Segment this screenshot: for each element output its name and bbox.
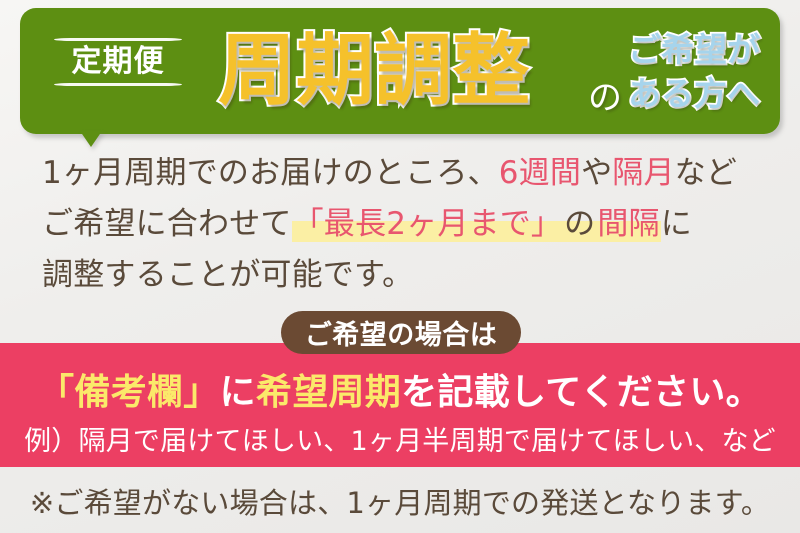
body-line-1: 1ヶ月周期でのお届けのところ、6週間や隔月など bbox=[42, 148, 772, 199]
pink-example-text: 例）隔月で届けてほしい、1ヶ月半周期で届けてほしい、など bbox=[0, 419, 800, 458]
badge-top-rule bbox=[54, 38, 182, 41]
request-pill: ご希望の場合は bbox=[281, 311, 521, 354]
body-paragraph: 1ヶ月周期でのお届けのところ、6週間や隔月など ご希望に合わせて「最長2ヶ月まで… bbox=[42, 148, 772, 301]
body-line1-part-c: や bbox=[581, 155, 612, 191]
wish-line-1: ご希望が bbox=[628, 28, 780, 72]
pink-headline-part-d: を記載してください。 bbox=[401, 372, 762, 413]
body-line-2: ご希望に合わせて「最長2ヶ月まで」の間隔に bbox=[42, 199, 772, 250]
speech-bubble-tail bbox=[80, 131, 102, 147]
header-title: 周期調整 bbox=[218, 28, 530, 115]
body-line2-highlight-interval: 間隔 bbox=[596, 206, 660, 242]
header-wish-text: ご希望が ある方へ bbox=[628, 28, 780, 115]
request-pill-label: ご希望の場合は bbox=[305, 313, 498, 352]
body-line2-part-a: ご希望に合わせて bbox=[42, 206, 292, 242]
footnote-text: ※ご希望がない場合は、1ヶ月周期での発送となります。 bbox=[0, 480, 800, 522]
pink-headline: 「備考欄」に希望周期を記載してください。 bbox=[0, 363, 800, 415]
badge-bottom-rule bbox=[54, 83, 182, 86]
body-line2-part-e: に bbox=[661, 206, 692, 242]
pink-headline-part-b: に bbox=[220, 372, 256, 413]
subscription-badge: 定期便 bbox=[54, 38, 182, 86]
body-line2-highlight-maxtwomonths: 「最長2ヶ月まで」 bbox=[292, 206, 564, 242]
body-line1-highlight-6weeks: 6週間 bbox=[499, 155, 581, 191]
header-section: 定期便 周期調整 の ご希望が ある方へ bbox=[20, 8, 780, 134]
header-particle: の bbox=[588, 70, 622, 119]
body-line2-part-c: の bbox=[563, 206, 596, 242]
green-header-box: 定期便 周期調整 の ご希望が ある方へ bbox=[20, 8, 780, 134]
promo-banner: 定期便 周期調整 の ご希望が ある方へ 1ヶ月周期でのお届けのところ、6週間や… bbox=[0, 0, 800, 533]
pink-headline-desired-cycle: 希望周期 bbox=[256, 372, 401, 413]
badge-label: 定期便 bbox=[54, 46, 182, 78]
wish-line-2: ある方へ bbox=[628, 72, 780, 116]
body-line1-part-a: 1ヶ月周期でのお届けのところ、 bbox=[42, 155, 499, 191]
body-line-3: 調整することが可能です。 bbox=[42, 250, 772, 301]
pink-headline-remarks-field: 「備考欄」 bbox=[38, 372, 220, 413]
body-line1-part-e: など bbox=[675, 155, 737, 191]
body-line1-highlight-everyothermonth: 隔月 bbox=[612, 155, 674, 191]
